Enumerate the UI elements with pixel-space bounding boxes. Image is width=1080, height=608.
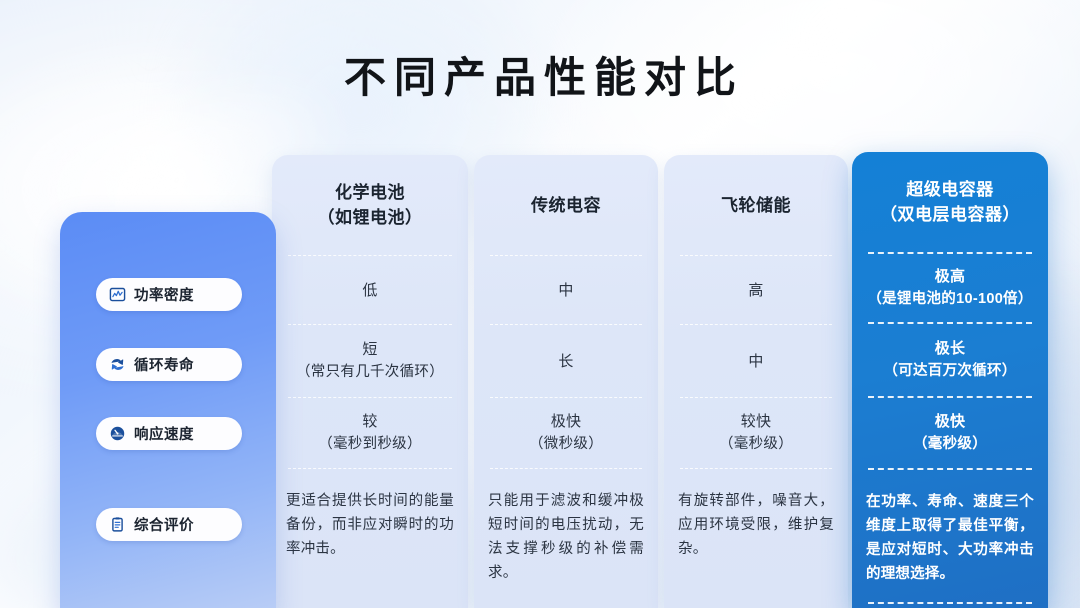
column-header-line1: 化学电池 [318, 180, 423, 205]
metric-pill-cycle-life[interactable]: 循环寿命 [96, 348, 242, 381]
chart-monitor-icon [109, 286, 126, 303]
cell-value: 极快 [551, 410, 582, 433]
cell-value: 中 [558, 279, 573, 302]
cell-cycle-life: 极长 （可达百万次循环） [866, 324, 1034, 396]
speedometer-icon [109, 425, 126, 442]
cell-value: 极高 [935, 265, 966, 288]
column-header: 化学电池 （如锂电池） [286, 155, 454, 255]
cell-value: 较 [362, 410, 377, 433]
cell-value: 长 [558, 350, 573, 373]
recycle-arrows-icon [109, 356, 126, 373]
clipboard-list-icon [109, 516, 126, 533]
product-column-chemical-battery[interactable]: 化学电池 （如锂电池） 低 短 （常只有几千次循环） 较 （毫秒到秒级） 更适合… [272, 155, 468, 608]
product-column-flywheel-storage[interactable]: 飞轮储能 高 中 较快 （毫秒级） 有旋转部件，噪音大，应用环境受限，维护复杂。 [664, 155, 848, 608]
metric-rail: 功率密度 循环寿命 [60, 212, 276, 608]
metric-pill-overall-rating[interactable]: 综合评价 [96, 508, 242, 541]
cell-response-speed: 极快 （微秒级） [488, 398, 644, 468]
column-header-line1: 超级电容器 [880, 177, 1020, 202]
cell-subtext: （毫秒级） [913, 433, 987, 456]
cell-summary: 更适合提供长时间的能量备份，而非应对瞬时的功率冲击。 [286, 469, 454, 561]
column-header: 飞轮储能 [678, 155, 834, 255]
metric-pill-label: 功率密度 [134, 284, 194, 305]
column-header-line1: 传统电容 [531, 193, 601, 218]
cell-response-speed: 较快 （毫秒级） [678, 398, 834, 468]
column-header-line2: （如锂电池） [318, 205, 423, 230]
product-column-traditional-capacitor[interactable]: 传统电容 中 长 极快 （微秒级） 只能用于滤波和缓冲极短时间的电压扰动，无法支… [474, 155, 658, 608]
cell-value: 高 [748, 279, 763, 302]
metric-pill-label: 响应速度 [134, 423, 194, 444]
metric-pill-power-density[interactable]: 功率密度 [96, 278, 242, 311]
cell-subtext: （微秒级） [529, 433, 603, 456]
column-header: 超级电容器 （双电层电容器） [866, 152, 1034, 252]
page-title: 不同产品性能对比 [0, 44, 1080, 105]
cell-value: 中 [748, 350, 763, 373]
cell-value: 低 [362, 279, 377, 302]
cell-subtext: （是锂电池的10-100倍） [867, 288, 1032, 311]
cell-power-density: 中 [488, 256, 644, 324]
metric-pill-response-speed[interactable]: 响应速度 [96, 417, 242, 450]
cell-power-density: 极高 （是锂电池的10-100倍） [866, 254, 1034, 322]
cell-power-density: 高 [678, 256, 834, 324]
metric-pill-label: 综合评价 [134, 514, 194, 535]
cell-summary: 在功率、寿命、速度三个维度上取得了最佳平衡，是应对短时、大功率冲击的理想选择。 [866, 470, 1034, 586]
cell-cycle-life: 中 [678, 325, 834, 397]
cell-value: 极快 [935, 410, 966, 433]
cell-subtext: （毫秒到秒级） [318, 433, 422, 456]
cell-power-density: 低 [286, 256, 454, 324]
cell-subtext: （常只有几千次循环） [296, 361, 444, 384]
cell-cycle-life: 长 [488, 325, 644, 397]
cell-subtext: （毫秒级） [719, 433, 793, 456]
column-header-line2: （双电层电容器） [880, 202, 1020, 227]
cell-subtext: （可达百万次循环） [883, 360, 1016, 383]
column-header-line1: 飞轮储能 [721, 193, 791, 218]
cell-response-speed: 较 （毫秒到秒级） [286, 398, 454, 468]
cell-response-speed: 极快 （毫秒级） [866, 398, 1034, 468]
metric-pill-label: 循环寿命 [134, 354, 194, 375]
cell-summary: 有旋转部件，噪音大，应用环境受限，维护复杂。 [678, 469, 834, 561]
cell-summary: 只能用于滤波和缓冲极短时间的电压扰动，无法支撑秒级的补偿需求。 [488, 469, 644, 585]
cell-value: 短 [362, 338, 377, 361]
row-separator [868, 602, 1032, 604]
cell-cycle-life: 短 （常只有几千次循环） [286, 325, 454, 397]
column-header: 传统电容 [488, 155, 644, 255]
cell-value: 极长 [935, 337, 966, 360]
product-column-supercapacitor[interactable]: 超级电容器 （双电层电容器） 极高 （是锂电池的10-100倍） 极长 （可达百… [852, 152, 1048, 608]
cell-value: 较快 [741, 410, 772, 433]
